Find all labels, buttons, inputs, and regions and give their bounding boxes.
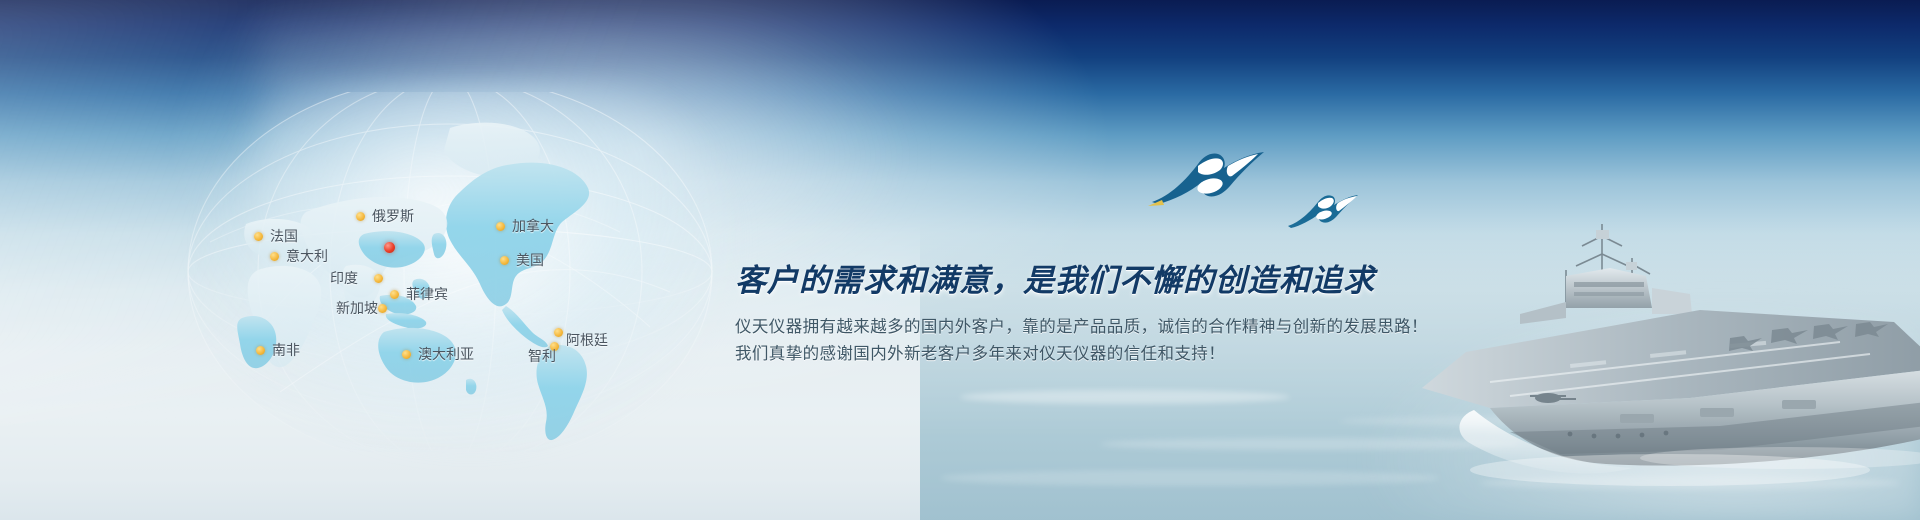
banner-copy: 客户的需求和满意，是我们不懈的创造和追求 仪天仪器拥有越来越多的国内外客户，靠的…: [735, 262, 1475, 367]
map-marker-dot: [270, 252, 279, 261]
world-map-globe: 法国意大利俄罗斯印度加拿大美国菲律宾新加坡南非澳大利亚智利阿根廷: [150, 92, 780, 452]
map-label-1: 意大利: [286, 250, 328, 264]
map-marker-dot: [256, 346, 265, 355]
map-marker-dot: [374, 274, 383, 283]
seagull-large-icon: [1140, 130, 1270, 220]
hero-banner: 法国意大利俄罗斯印度加拿大美国菲律宾新加坡南非澳大利亚智利阿根廷: [0, 0, 1920, 520]
map-marker-dot: [254, 232, 263, 241]
map-label-9: 澳大利亚: [418, 348, 474, 362]
map-label-11: 阿根廷: [566, 334, 608, 348]
map-marker-dot: [384, 242, 395, 253]
map-marker-dot: [500, 256, 509, 265]
map-label-2: 俄罗斯: [372, 210, 414, 224]
map-marker-dot: [402, 350, 411, 359]
map-label-3: 印度: [330, 272, 358, 286]
map-marker-dot: [496, 222, 505, 231]
map-marker-dot: [356, 212, 365, 221]
map-label-7: 新加坡: [336, 302, 378, 316]
map-marker-dot: [554, 328, 563, 337]
seagull-small-icon: [1282, 182, 1360, 238]
banner-body-line-1: 仪天仪器拥有越来越多的国内外客户，靠的是产品品质，诚信的合作精神与创新的发展思路…: [735, 314, 1475, 340]
map-marker-dot: [390, 290, 399, 299]
map-label-4: 加拿大: [512, 220, 554, 234]
map-label-10: 智利: [528, 350, 556, 364]
map-label-5: 美国: [516, 254, 544, 268]
map-label-6: 菲律宾: [406, 288, 448, 302]
banner-body-line-2: 我们真挚的感谢国内外新老客户多年来对仪天仪器的信任和支持！: [735, 341, 1475, 367]
banner-headline: 客户的需求和满意，是我们不懈的创造和追求: [735, 262, 1475, 300]
map-label-8: 南非: [272, 344, 300, 358]
world-map-landmasses: [150, 92, 780, 452]
map-marker-dot: [378, 304, 387, 313]
map-label-0: 法国: [270, 230, 298, 244]
